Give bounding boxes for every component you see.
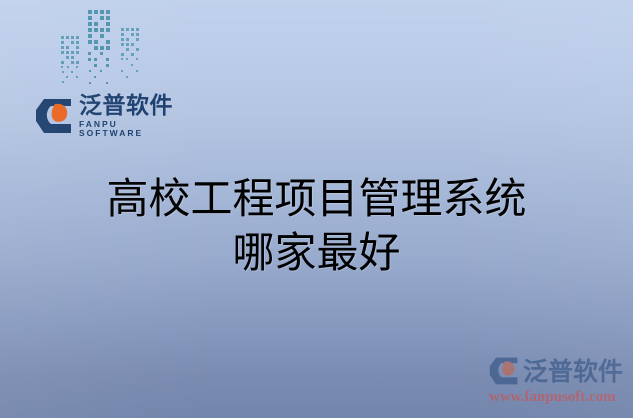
watermark-logo-row: 泛普软件 [487, 354, 627, 388]
brand-name-cn: 泛普软件 [79, 94, 183, 118]
watermark-url: www.fanpusoft.com [487, 389, 627, 406]
watermark-fanpu-logo-mark-icon [487, 356, 521, 386]
fanpu-logo-mark-icon [33, 97, 75, 135]
brand-logo: 泛普软件 FANPU SOFTWARE [33, 93, 183, 138]
promo-banner: 泛普软件 FANPU SOFTWARE 高校工程项目管理系统 哪家最好 泛普软件… [0, 0, 633, 418]
page-title-line-1: 高校工程项目管理系统 [0, 172, 633, 226]
watermark: 泛普软件 www.fanpusoft.com [487, 354, 627, 412]
brand-wordmark: 泛普软件 FANPU SOFTWARE [79, 94, 183, 137]
page-title: 高校工程项目管理系统 哪家最好 [0, 172, 633, 280]
watermark-name-cn: 泛普软件 [523, 359, 623, 384]
page-title-line-2: 哪家最好 [0, 226, 633, 280]
brand-name-en: FANPU SOFTWARE [79, 120, 183, 137]
pixel-building-skyline-graphic [57, 6, 162, 90]
